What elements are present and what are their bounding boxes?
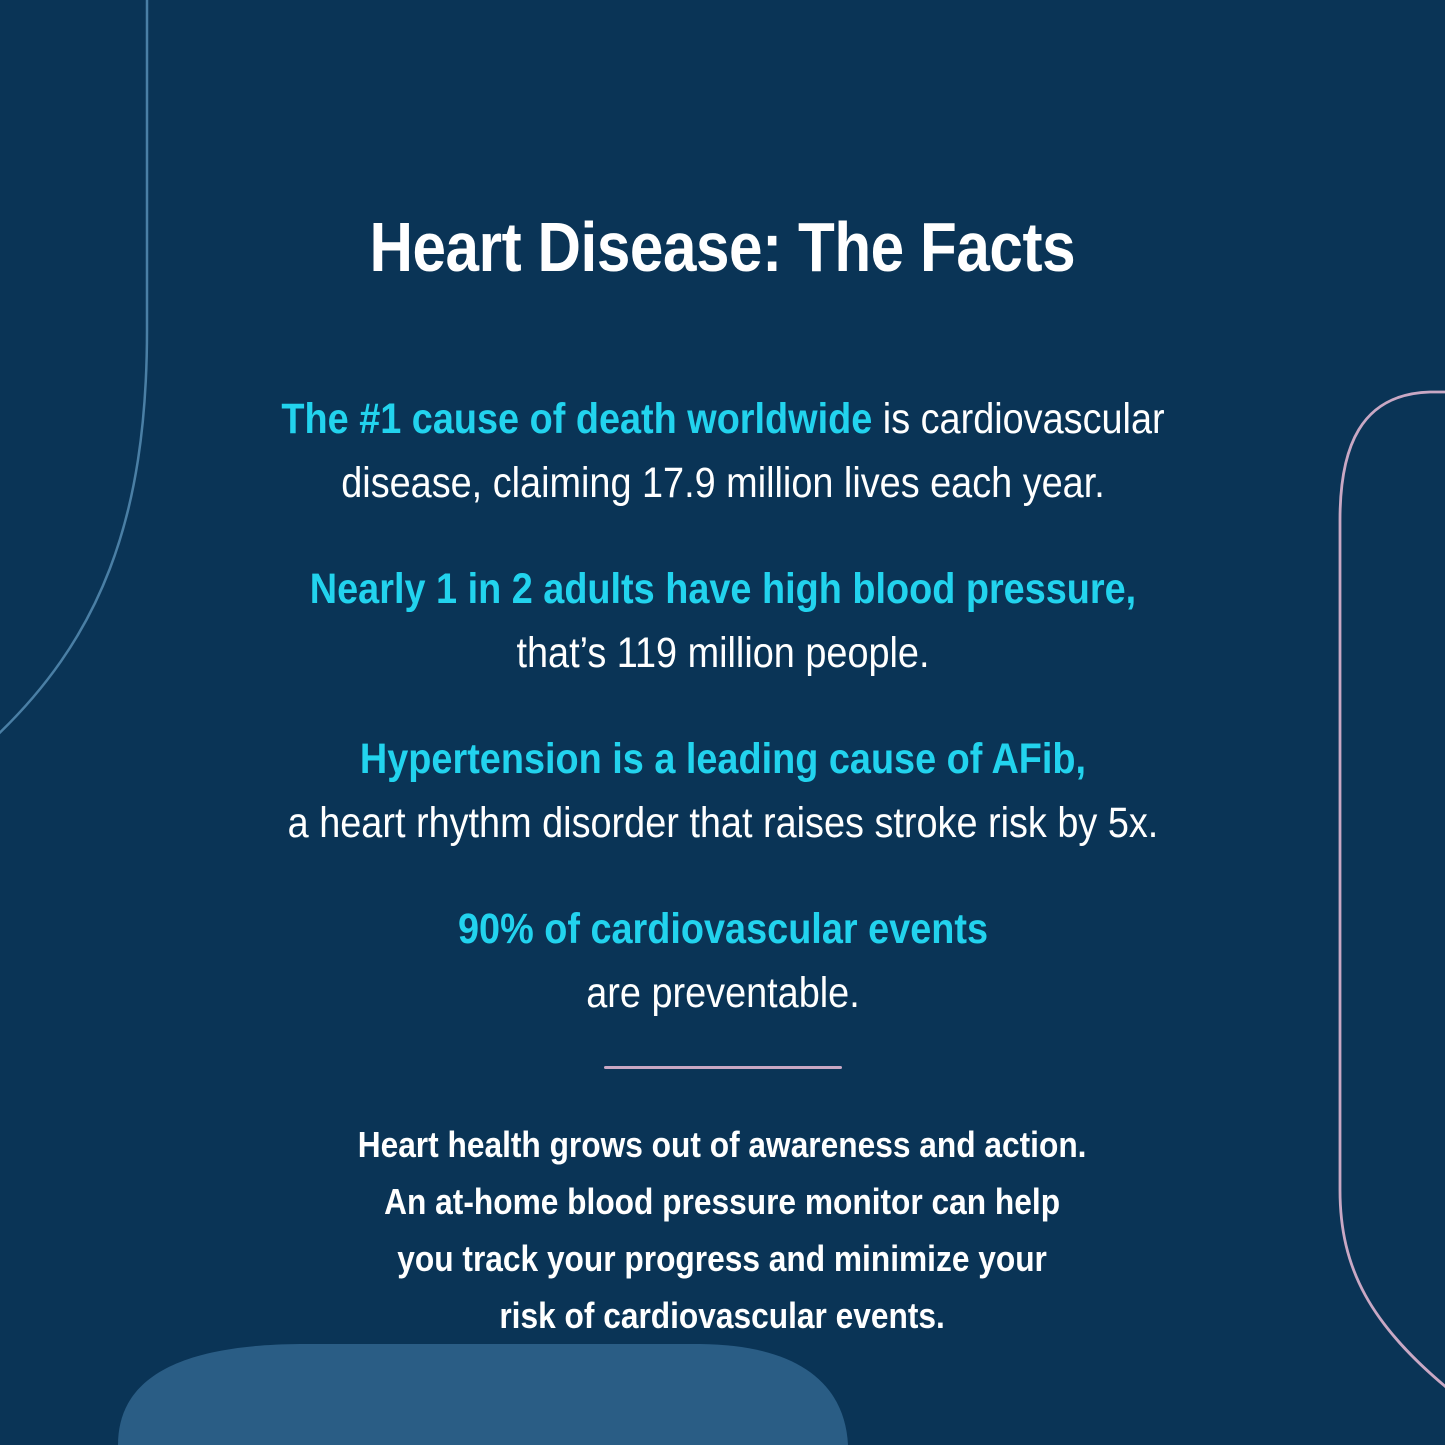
page-title: Heart Disease: The Facts bbox=[370, 212, 1076, 282]
section-divider bbox=[604, 1066, 842, 1069]
fact-1-line-1: The #1 cause of death worldwide is cardi… bbox=[195, 387, 1251, 452]
fact-item-2: Nearly 1 in 2 adults have high blood pre… bbox=[123, 557, 1323, 686]
fact-4-lead: 90% of cardiovascular events bbox=[457, 905, 987, 953]
fact-1-lead: The #1 cause of death worldwide bbox=[281, 395, 872, 443]
infographic-poster: Heart Disease: The Facts The #1 cause of… bbox=[0, 0, 1445, 1445]
fact-2-line-2: that’s 119 million people. bbox=[195, 621, 1251, 686]
fact-1-rest: is cardiovascular bbox=[872, 395, 1164, 443]
fact-3-line-1: Hypertension is a leading cause of AFib, bbox=[195, 727, 1251, 792]
fact-3-line-2: a heart rhythm disorder that raises stro… bbox=[195, 791, 1251, 856]
fact-item-4: 90% of cardiovascular events are prevent… bbox=[123, 897, 1323, 1026]
fact-item-3: Hypertension is a leading cause of AFib,… bbox=[123, 727, 1323, 856]
fact-4-line-2: are preventable. bbox=[195, 961, 1251, 1026]
footer-line-1: Heart health grows out of awareness and … bbox=[358, 1117, 1087, 1174]
facts-list: The #1 cause of death worldwide is cardi… bbox=[123, 387, 1323, 1026]
footer-line-4: risk of cardiovascular events. bbox=[358, 1288, 1087, 1345]
fact-2-line-1: Nearly 1 in 2 adults have high blood pre… bbox=[195, 557, 1251, 622]
fact-1-line-2: disease, claiming 17.9 million lives eac… bbox=[195, 451, 1251, 516]
fact-2-lead: Nearly 1 in 2 adults have high blood pre… bbox=[309, 565, 1135, 613]
footer-message: Heart health grows out of awareness and … bbox=[308, 1117, 1136, 1345]
poster-content: Heart Disease: The Facts The #1 cause of… bbox=[0, 0, 1445, 1445]
footer-line-3: you track your progress and minimize you… bbox=[358, 1231, 1087, 1288]
fact-4-line-1: 90% of cardiovascular events bbox=[195, 897, 1251, 962]
footer-line-2: An at-home blood pressure monitor can he… bbox=[358, 1174, 1087, 1231]
fact-item-1: The #1 cause of death worldwide is cardi… bbox=[123, 387, 1323, 516]
fact-3-lead: Hypertension is a leading cause of AFib, bbox=[359, 735, 1085, 783]
